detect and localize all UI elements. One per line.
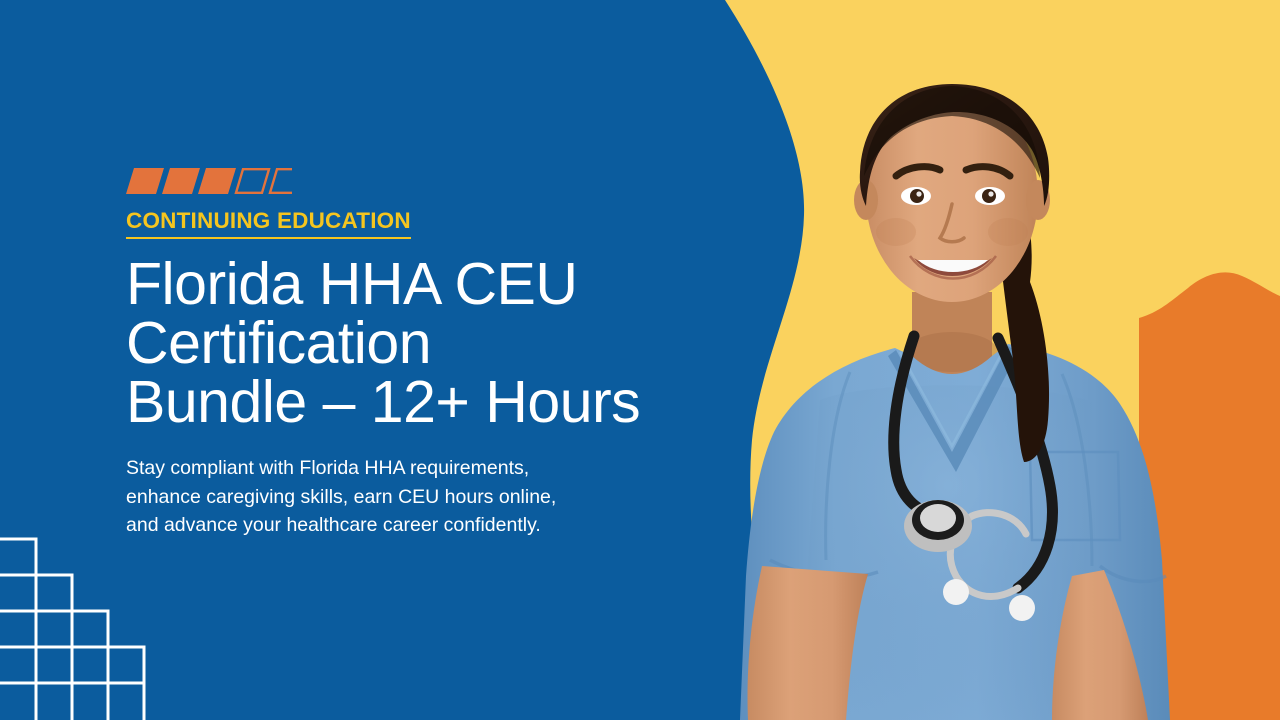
right-cheek-shade bbox=[988, 218, 1028, 246]
eyebrow-label: CONTINUING EDUCATION bbox=[126, 208, 696, 255]
chestpiece-diaphragm bbox=[920, 504, 956, 532]
slanted-bars-icon bbox=[126, 168, 292, 194]
headline-line-1: Florida HHA CEU bbox=[126, 255, 696, 314]
subtitle-line-1: Stay compliant with Florida HHA requirem… bbox=[126, 454, 696, 483]
left-eye-glint bbox=[916, 191, 921, 196]
stethoscope-eartip-left bbox=[943, 579, 969, 605]
subtitle-text: Stay compliant with Florida HHA requirem… bbox=[126, 454, 696, 540]
promo-banner: CONTINUING EDUCATION Florida HHA CEU Cer… bbox=[0, 0, 1280, 720]
left-iris bbox=[910, 189, 924, 203]
healthcare-professional-photo bbox=[700, 0, 1280, 720]
content-column: CONTINUING EDUCATION Florida HHA CEU Cer… bbox=[126, 168, 696, 540]
headline-line-3: Bundle – 12+ Hours bbox=[126, 373, 696, 432]
stethoscope-eartip-right bbox=[1009, 595, 1035, 621]
staircase-grid-decoration bbox=[0, 535, 200, 720]
subtitle-line-2: enhance caregiving skills, earn CEU hour… bbox=[126, 483, 696, 512]
headline-line-2: Certification bbox=[126, 314, 696, 373]
eyebrow-text: CONTINUING EDUCATION bbox=[126, 208, 411, 239]
right-eye-glint bbox=[988, 191, 993, 196]
page-title: Florida HHA CEU Certification Bundle – 1… bbox=[126, 255, 696, 432]
left-cheek-shade bbox=[876, 218, 916, 246]
subtitle-line-3: and advance your healthcare career confi… bbox=[126, 511, 696, 540]
right-iris bbox=[982, 189, 996, 203]
